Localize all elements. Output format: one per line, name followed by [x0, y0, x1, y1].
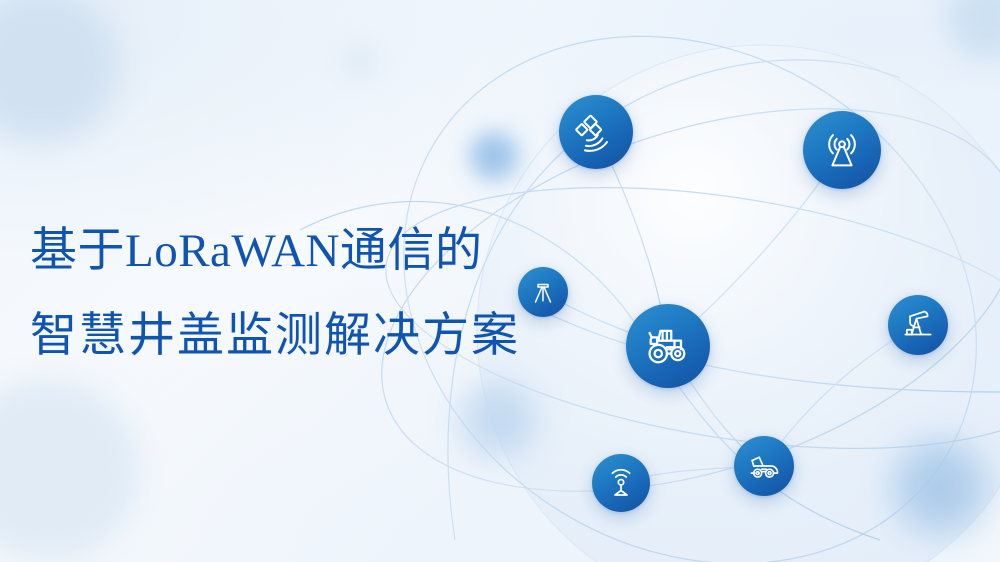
node-tractor[interactable]: [626, 304, 710, 388]
radio-tower-icon: [819, 127, 865, 173]
node-pumpjack[interactable]: [888, 295, 948, 355]
decor-dot: [460, 382, 536, 458]
node-sensor[interactable]: [592, 454, 650, 512]
node-satellite[interactable]: [559, 95, 633, 169]
node-antenna[interactable]: [803, 111, 881, 189]
survey-tripod-icon: [528, 277, 558, 307]
page-title: 基于LoRaWAN通信的 智慧井盖监测解决方案: [30, 228, 520, 358]
title-line-2: 智慧井盖监测解决方案: [30, 311, 520, 358]
node-tripod[interactable]: [518, 267, 568, 317]
node-rover[interactable]: [734, 436, 794, 496]
tractor-icon: [642, 320, 694, 372]
oil-pumpjack-icon: [899, 306, 937, 344]
decor-dot: [0, 378, 140, 562]
decor-dot: [894, 441, 986, 533]
satellite-icon: [574, 110, 618, 154]
decor-dot: [470, 132, 518, 180]
rover-vehicle-icon: [745, 447, 783, 485]
slide-canvas: 基于LoRaWAN通信的 智慧井盖监测解决方案: [0, 0, 1000, 562]
title-line-1: 基于LoRaWAN通信的: [30, 228, 520, 275]
wifi-sensor-icon: [603, 465, 639, 501]
